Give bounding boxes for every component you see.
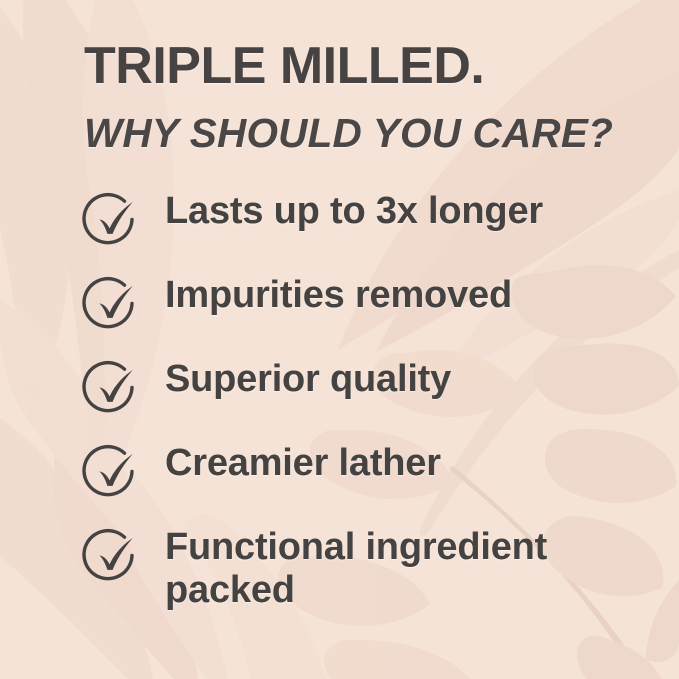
circle-check-icon — [81, 527, 143, 589]
benefit-label: Lasts up to 3x longer — [165, 190, 543, 233]
benefit-label: Superior quality — [165, 358, 451, 401]
benefit-label: Impurities removed — [165, 274, 512, 317]
headline-block: TRIPLE MILLED. WHY SHOULD YOU CARE? — [84, 40, 644, 154]
benefit-label: Creamier lather — [165, 442, 441, 485]
benefit-list-item: Creamier lather — [0, 442, 679, 526]
circle-check-icon — [81, 275, 143, 337]
benefit-list-item: Functional ingredient packed — [0, 526, 679, 610]
circle-check-icon — [81, 359, 143, 421]
benefit-label: Functional ingredient packed — [165, 526, 585, 612]
benefit-list: Lasts up to 3x longer Impurities removed — [0, 190, 679, 610]
circle-check-icon — [81, 191, 143, 253]
circle-check-icon — [81, 443, 143, 505]
infographic-canvas: TRIPLE MILLED. WHY SHOULD YOU CARE? Last… — [0, 0, 679, 679]
benefit-list-item: Superior quality — [0, 358, 679, 442]
benefit-list-item: Impurities removed — [0, 274, 679, 358]
benefit-list-item: Lasts up to 3x longer — [0, 190, 679, 274]
page-title: TRIPLE MILLED. — [84, 40, 644, 92]
page-subtitle: WHY SHOULD YOU CARE? — [84, 92, 644, 154]
content-layer: TRIPLE MILLED. WHY SHOULD YOU CARE? Last… — [0, 0, 679, 679]
